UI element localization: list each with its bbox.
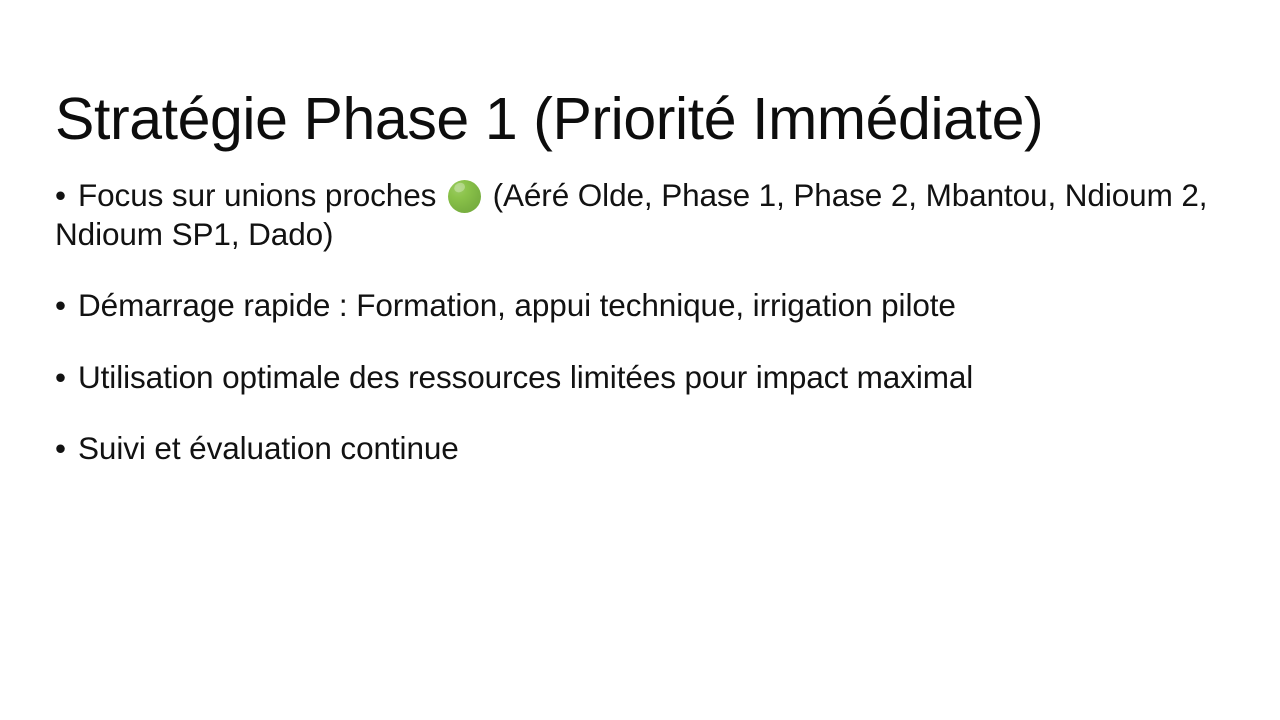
bullet-item-3: •Utilisation optimale des ressources lim… (55, 358, 1223, 398)
bullet-text-4: Suivi et évaluation continue (78, 430, 459, 466)
slide-body-bullet-list: •Focus sur unions proches (Aéré Olde, Ph… (55, 144, 1223, 468)
bullet-item-2: •Démarrage rapide : Formation, appui tec… (55, 286, 1223, 326)
bullet-text-2: Démarrage rapide : Formation, appui tech… (78, 287, 956, 323)
presentation-slide: Stratégie Phase 1 (Priorité Immédiate) •… (0, 0, 1280, 720)
bullet-marker-icon: • (55, 433, 78, 465)
bullet-item-4: •Suivi et évaluation continue (55, 429, 1223, 469)
bullet-text-3: Utilisation optimale des ressources limi… (78, 359, 973, 395)
green-circle-icon (448, 180, 481, 213)
bullet-marker-icon: • (55, 180, 78, 212)
bullet-marker-icon: • (55, 362, 78, 394)
slide-title: Stratégie Phase 1 (Priorité Immédiate) (55, 88, 1225, 152)
bullet-item-1: •Focus sur unions proches (Aéré Olde, Ph… (55, 176, 1223, 255)
bullet-marker-icon: • (55, 290, 78, 322)
bullet-text-1-before-icon: Focus sur unions proches (78, 177, 445, 213)
